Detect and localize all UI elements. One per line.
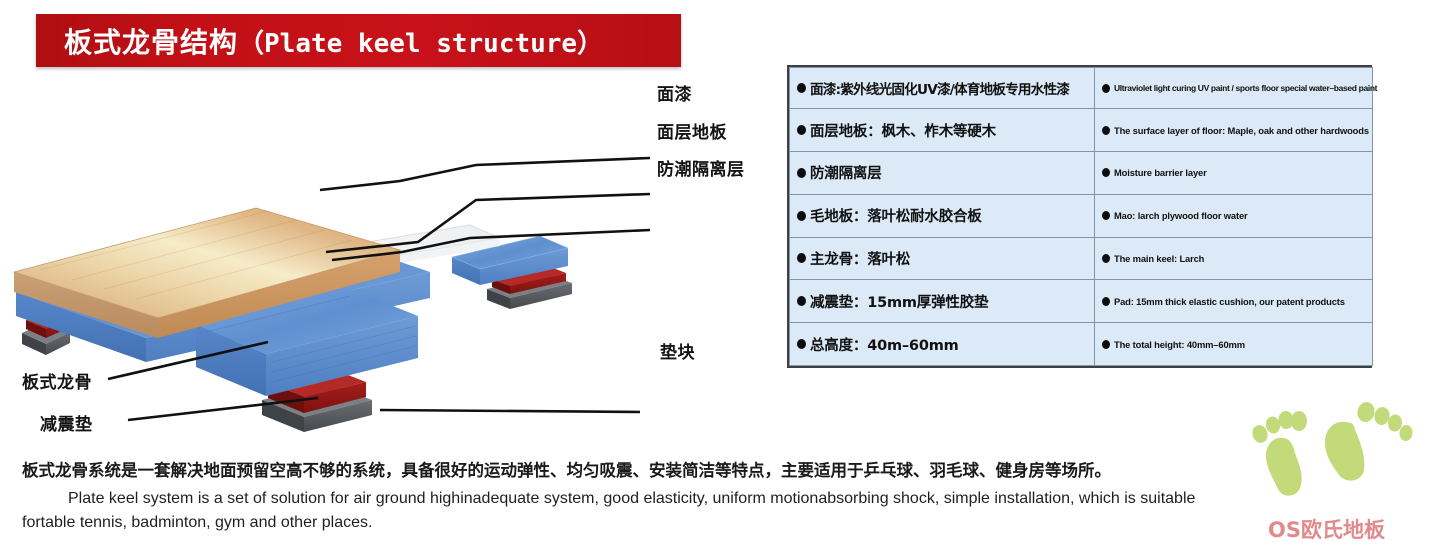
table-row: 防潮隔离层 Moisture barrier layer [790,151,1373,194]
spec-table: 面漆:紫外线光固化UV漆/体育地板专用水性漆 Ultraviolet light… [787,65,1372,368]
spec-cn-text: 面层地板：枫木、柞木等硬木 [810,120,996,141]
diagram-label-plate-keel: 板式龙骨 [22,368,92,393]
bullet-icon [797,83,806,93]
bullet-icon [1102,297,1110,306]
table-cell-en: Pad: 15mm thick elastic cushion, our pat… [1095,280,1373,323]
spec-cn-text: 防潮隔离层 [810,162,882,183]
description-paragraph-en: Plate keel system is a set of solution f… [22,487,1422,535]
description-paragraph-cn: 板式龙骨系统是一套解决地面预留空高不够的系统，具备很好的运动弹性、均匀吸震、安装… [22,457,1412,481]
footprint-left-icon [1250,410,1307,495]
table-cell-en: Ultraviolet light curing UV paint / spor… [1095,68,1373,109]
bullet-icon [797,125,806,135]
table-row: 总高度：40m–60mm The total height: 40mm–60mm [790,323,1373,366]
floor-structure-diagram: 面漆 面层地板 防潮隔离层 垫块 板式龙骨 减震垫 [0,70,780,460]
bullet-icon [1102,84,1110,93]
spec-en-text: The main keel: Larch [1114,253,1204,264]
table-row: 主龙骨：落叶松 The main keel: Larch [790,237,1373,280]
table-cell-cn: 面层地板：枫木、柞木等硬木 [790,109,1095,152]
brand-logo: OS欧氏地板 [1268,514,1385,544]
table-cell-cn: 面漆:紫外线光固化UV漆/体育地板专用水性漆 [790,68,1095,109]
spec-cn-text: 毛地板：落叶松耐水胶合板 [810,205,982,226]
diagram-label-top-coat: 面漆 [657,80,692,105]
table-row: 面漆:紫外线光固化UV漆/体育地板专用水性漆 Ultraviolet light… [790,68,1373,109]
bullet-icon [1102,211,1110,220]
table-cell-en: Mao: larch plywood floor water [1095,194,1373,237]
table-cell-en: The main keel: Larch [1095,237,1373,280]
table-row: 毛地板：落叶松耐水胶合板 Mao: larch plywood floor wa… [790,194,1373,237]
bullet-icon [1102,168,1110,177]
bullet-icon [797,211,806,221]
bullet-icon [797,253,806,263]
table-cell-en: The surface layer of floor: Maple, oak a… [1095,109,1373,152]
spec-cn-text: 减震垫：15mm厚弹性胶垫 [810,291,988,312]
leader-line-pad-block [380,410,640,412]
table-cell-cn: 毛地板：落叶松耐水胶合板 [790,194,1095,237]
bullet-icon [797,296,806,306]
spec-en-text: The total height: 40mm–60mm [1114,339,1245,350]
page-title: 板式龙骨结构（Plate keel structure） [64,21,603,61]
page-title-en: （Plate keel structure） [238,29,603,59]
table-cell-cn: 主龙骨：落叶松 [790,237,1095,280]
spec-table-grid: 面漆:紫外线光固化UV漆/体育地板专用水性漆 Ultraviolet light… [789,67,1373,366]
description-en-line2: fortable tennis, badminton, gym and othe… [22,514,372,531]
table-cell-en: The total height: 40mm–60mm [1095,323,1373,366]
bullet-icon [797,168,806,178]
description-en-line1: Plate keel system is a set of solution f… [68,490,1195,507]
diagram-label-shock-pad: 减震垫 [40,410,93,435]
bullet-icon [1102,340,1110,349]
spec-en-text: Moisture barrier layer [1114,167,1207,178]
table-cell-cn: 防潮隔离层 [790,151,1095,194]
spec-en-text: The surface layer of floor: Maple, oak a… [1114,125,1369,136]
bullet-icon [797,339,806,349]
bullet-icon [1102,254,1110,263]
footprint-svg [1238,392,1428,502]
table-row: 减震垫：15mm厚弹性胶垫 Pad: 15mm thick elastic cu… [790,280,1373,323]
spec-en-text: Ultraviolet light curing UV paint / spor… [1114,83,1377,93]
spec-en-text: Mao: larch plywood floor water [1114,210,1248,221]
bullet-icon [1102,126,1110,135]
spec-cn-text: 面漆:紫外线光固化UV漆/体育地板专用水性漆 [810,78,1069,98]
leader-line-top-coat [320,158,650,190]
diagram-label-pad-block: 垫块 [660,338,695,363]
title-banner: 板式龙骨结构（Plate keel structure） [36,14,681,67]
spec-en-text: Pad: 15mm thick elastic cushion, our pat… [1114,296,1345,307]
footprint-graphic [1238,392,1428,502]
spec-cn-text: 主龙骨：落叶松 [810,248,910,269]
diagram-label-surface-floor: 面层地板 [657,118,727,143]
table-cell-cn: 总高度：40m–60mm [790,323,1095,366]
table-row: 面层地板：枫木、柞木等硬木 The surface layer of floor… [790,109,1373,152]
page-title-cn: 板式龙骨结构 [64,26,238,59]
spec-cn-text: 总高度：40m–60mm [810,334,959,355]
diagram-label-moisture-barrier: 防潮隔离层 [657,155,745,180]
table-cell-cn: 减震垫：15mm厚弹性胶垫 [790,280,1095,323]
table-cell-en: Moisture barrier layer [1095,151,1373,194]
